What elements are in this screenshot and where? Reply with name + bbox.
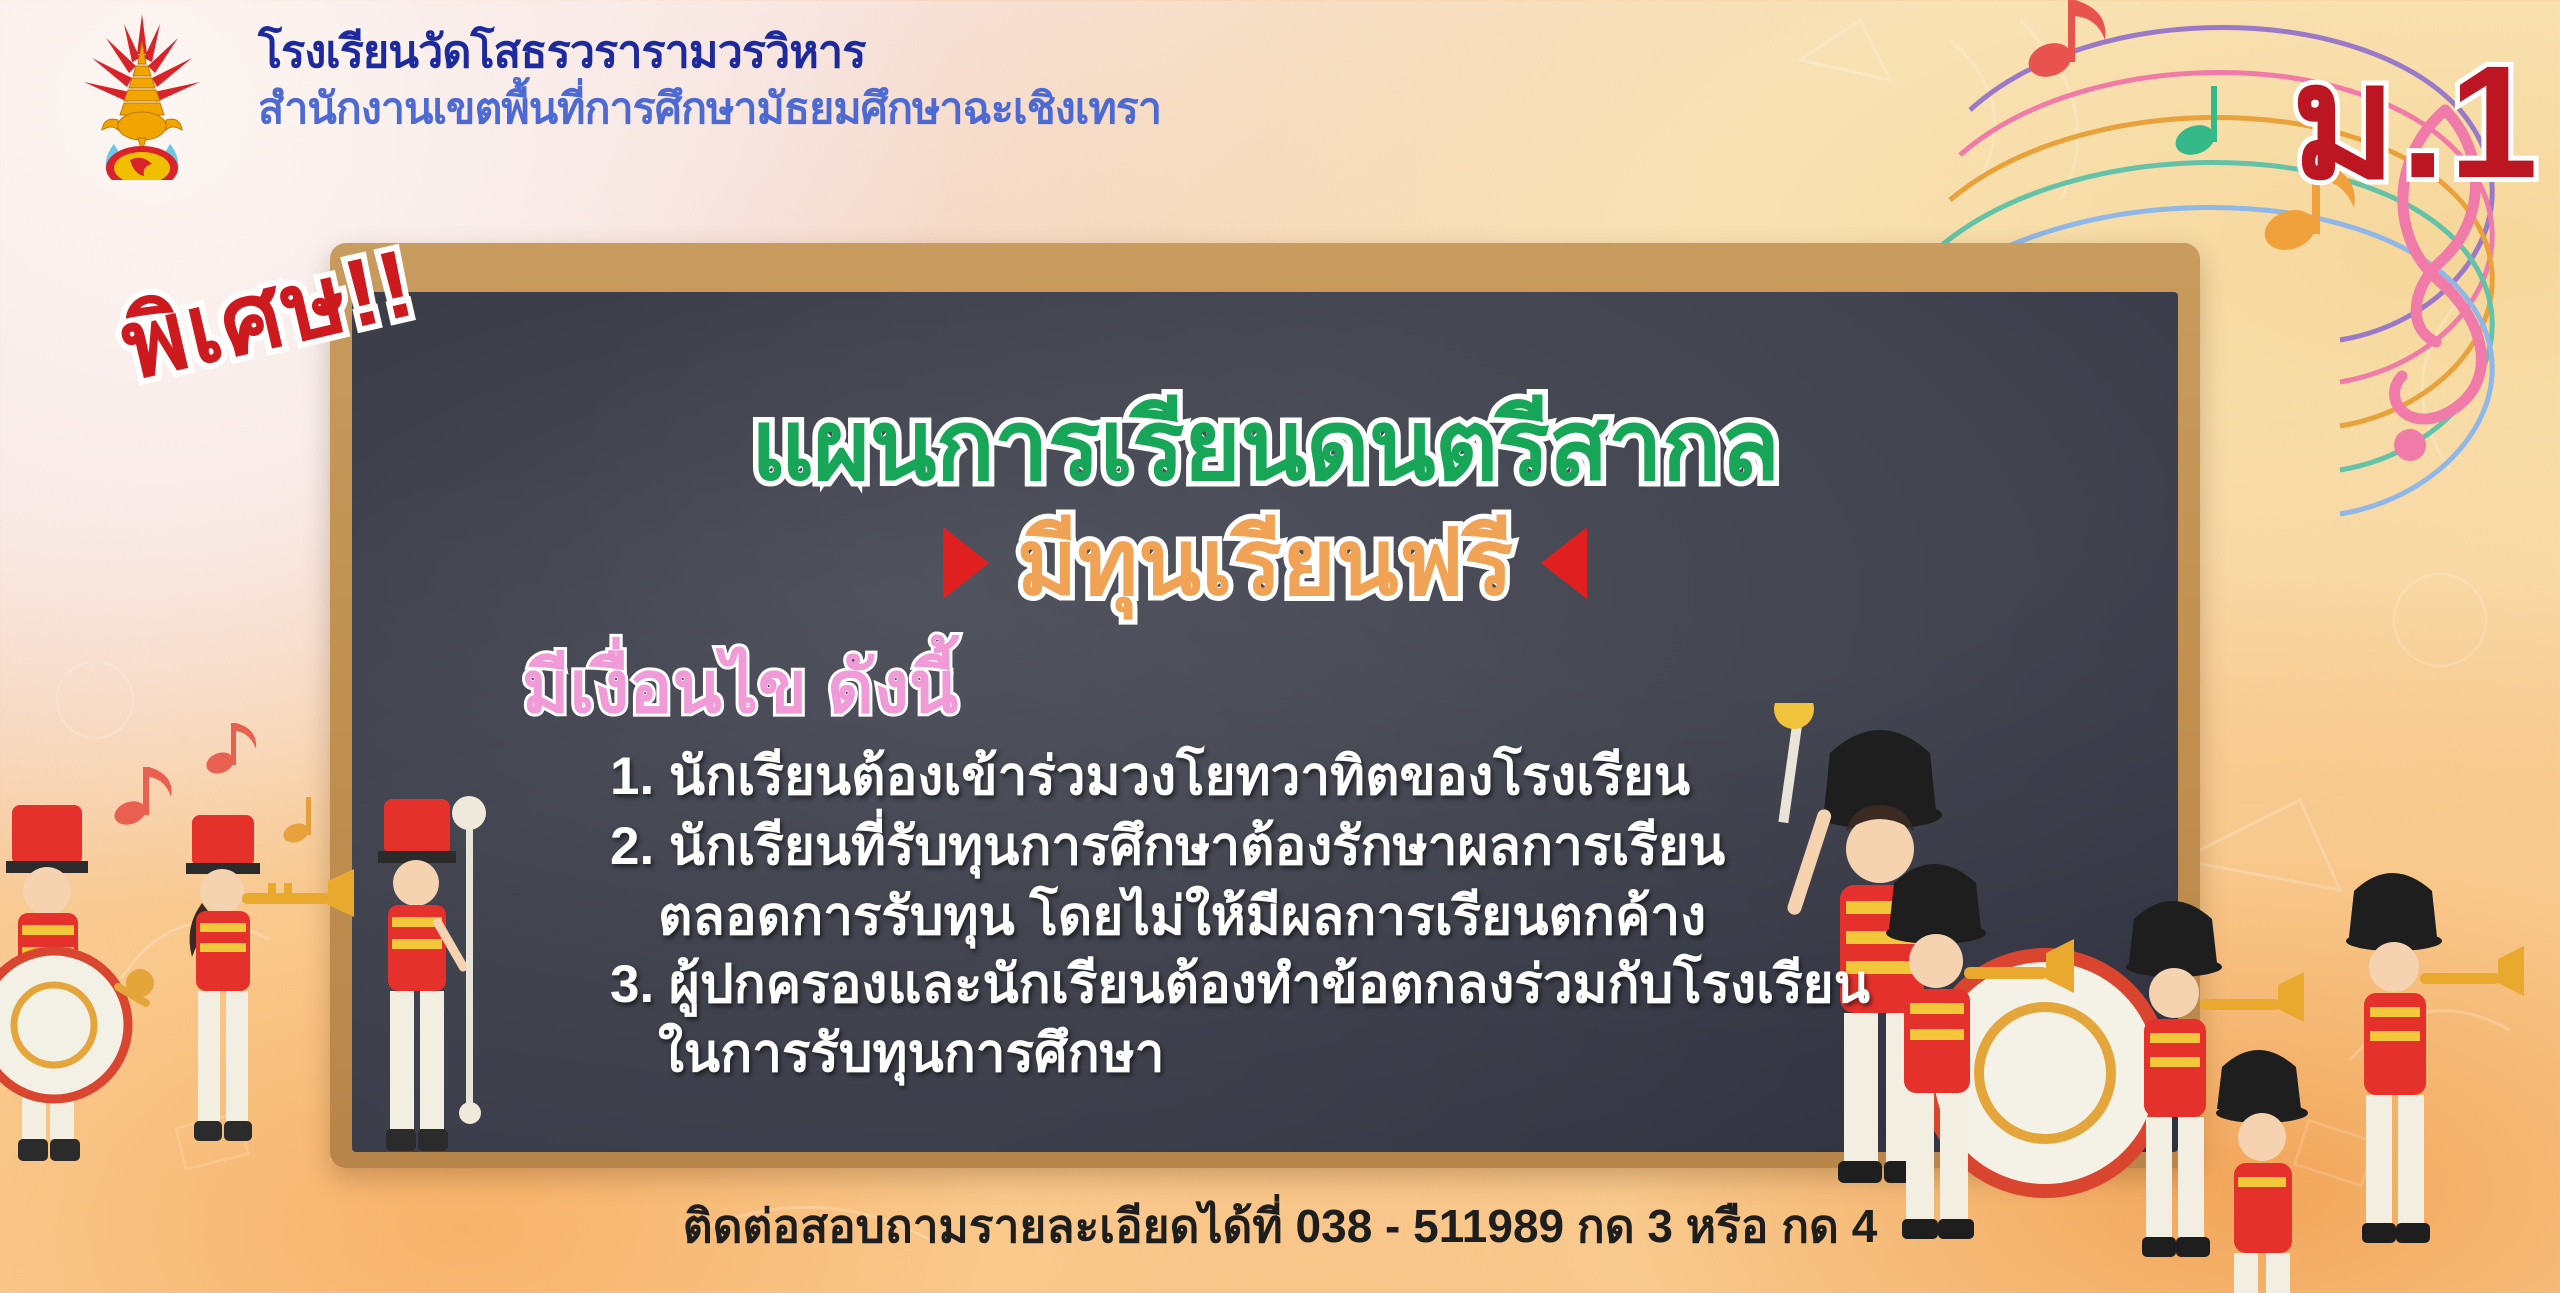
- list-item: 2. นักเรียนที่รับทุนการศึกษาต้องรักษาผลก…: [610, 813, 2138, 881]
- school-identity: โรงเรียนวัดโสธรวรารามวรวิหาร สำนักงานเขต…: [258, 26, 1161, 135]
- chalkboard: แผนการเรียนดนตรีสากล มีทุนเรียนฟรี มีเงื…: [352, 292, 2178, 1152]
- treble-clef-dot: [2394, 429, 2426, 461]
- contact-line: ติดต่อสอบถามรายละเอียดได้ที่ 038 - 51198…: [0, 1190, 2560, 1263]
- list-item: 1. นักเรียนต้องเข้าร่วมวงโยทวาทิตของโรงเ…: [610, 743, 2138, 811]
- list-item: 3. ผู้ปกครองและนักเรียนต้องทำข้อตกลงร่วม…: [610, 951, 2138, 1019]
- subtitle-row: มีทุนเรียนฟรี: [392, 515, 2138, 612]
- conditions-heading: มีเงื่อนไข ดังนี้: [522, 651, 2138, 727]
- program-subtitle: มีทุนเรียนฟรี: [1017, 515, 1513, 612]
- conditions-list: 1. นักเรียนต้องเข้าร่วมวงโยทวาทิตของโรงเ…: [610, 743, 2138, 1088]
- royal-emblem-icon: [62, 8, 222, 180]
- list-item-continuation: ในการรับทุนการศึกษา: [658, 1020, 2138, 1088]
- education-office-name: สำนักงานเขตพื้นที่การศึกษามัธยมศึกษาฉะเช…: [258, 84, 1161, 136]
- poster-header: โรงเรียนวัดโสธรวรารามวรวิหาร สำนักงานเขต…: [0, 0, 2560, 185]
- grade-level-badge: ม.1: [2291, 42, 2542, 202]
- school-name: โรงเรียนวัดโสธรวรารามวรวิหาร: [258, 26, 1161, 78]
- arrow-left-icon: [1541, 527, 1587, 599]
- program-title: แผนการเรียนดนตรีสากล: [392, 394, 2138, 497]
- music-note-icon: [203, 723, 256, 777]
- chalkboard-frame: แผนการเรียนดนตรีสากล มีทุนเรียนฟรี มีเงื…: [330, 243, 2200, 1168]
- list-item-continuation: ตลอดการรับทุน โดยไม่ให้มีผลการเรียนตกค้า…: [658, 883, 2138, 951]
- arrow-right-icon: [943, 527, 989, 599]
